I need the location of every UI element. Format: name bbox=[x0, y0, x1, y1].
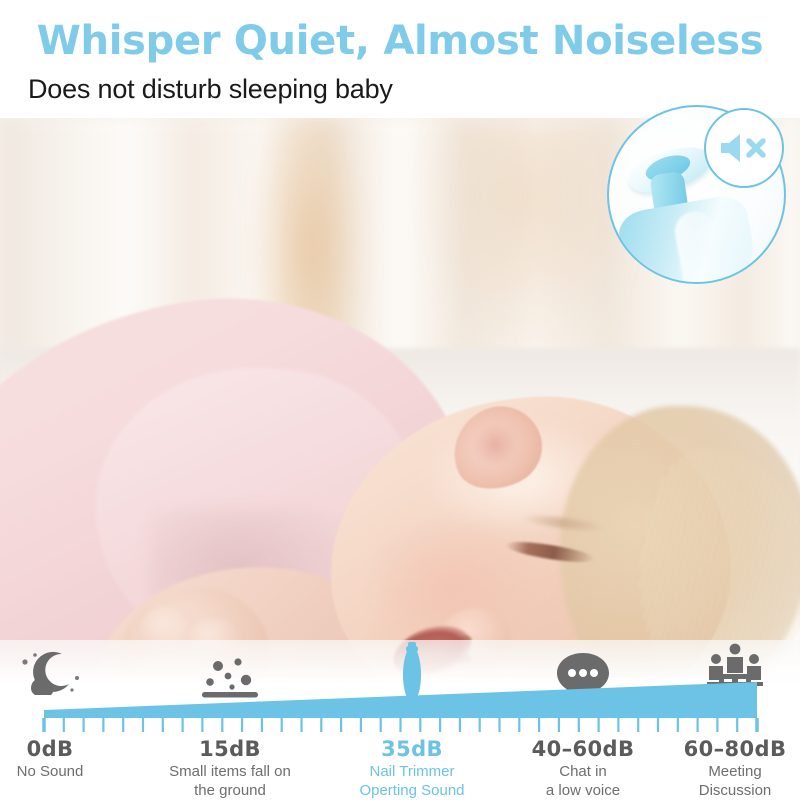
scale-desc-line1: Small items fall on bbox=[135, 763, 325, 781]
scale-desc-line1: Nail Trimmer bbox=[317, 763, 507, 781]
background-warm-glow-secondary bbox=[430, 118, 630, 378]
decibel-wedge-bar bbox=[0, 640, 800, 740]
scale-desc-line1: Meeting bbox=[640, 763, 800, 781]
scale-value: 15dB bbox=[135, 738, 325, 762]
scale-desc-line2: Discussion bbox=[640, 782, 800, 800]
mute-badge bbox=[704, 108, 784, 188]
scale-label-60-80db: 60–80dB Meeting Discussion bbox=[640, 738, 800, 800]
page-subheadline: Does not disturb sleeping baby bbox=[28, 74, 393, 105]
product-infographic: Whisper Quiet, Almost Noiseless Does not… bbox=[0, 0, 800, 800]
scale-value: 35dB bbox=[317, 738, 507, 762]
scale-value: 0dB bbox=[0, 738, 145, 762]
scale-label-0db: 0dB No Sound bbox=[0, 738, 145, 782]
scale-labels: 0dB No Sound 15dB Small items fall on th… bbox=[0, 738, 800, 800]
scale-value: 60–80dB bbox=[640, 738, 800, 762]
scale-desc-line2: the ground bbox=[135, 782, 325, 800]
scale-desc-line1: No Sound bbox=[0, 763, 145, 781]
scale-label-35db: 35dB Nail Trimmer Operting Sound bbox=[317, 738, 507, 800]
scale-label-15db: 15dB Small items fall on the ground bbox=[135, 738, 325, 800]
decibel-scale: 0dB No Sound 15dB Small items fall on th… bbox=[0, 640, 800, 800]
page-headline: Whisper Quiet, Almost Noiseless bbox=[0, 18, 800, 64]
scale-desc-line2: Operting Sound bbox=[317, 782, 507, 800]
speaker-mute-icon bbox=[718, 131, 770, 165]
